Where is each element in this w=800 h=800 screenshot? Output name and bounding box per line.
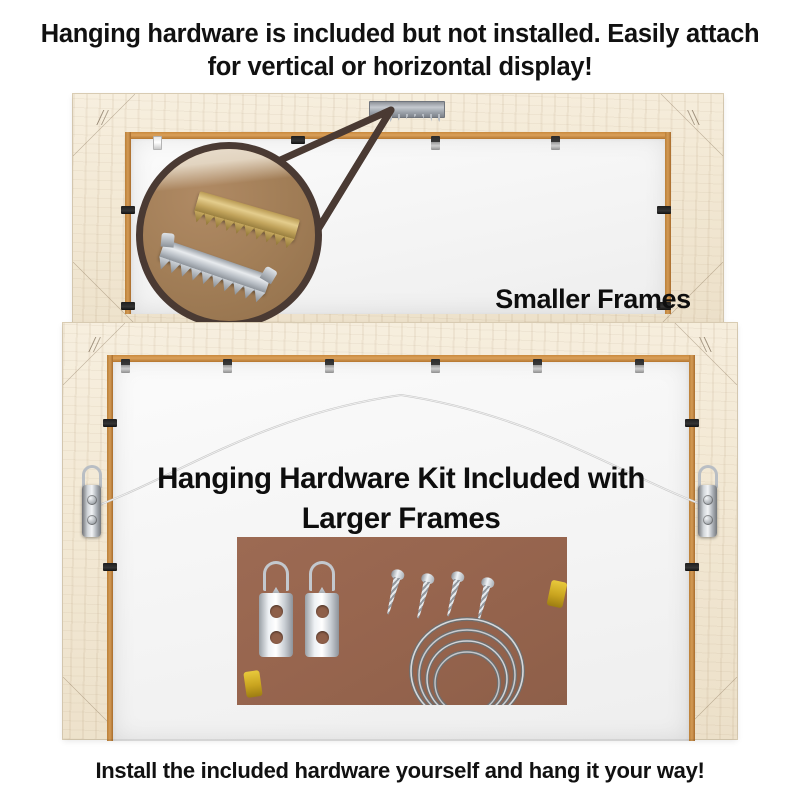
retaining-clip: [685, 563, 699, 571]
kit-screw: [442, 570, 466, 618]
upper-frame-inner-lip: [129, 132, 669, 139]
magnifier-callout-circle: [136, 142, 322, 328]
corner-staple-icon: [83, 337, 103, 352]
sawtooth-teeth-icon: [372, 114, 442, 122]
retaining-clip: [103, 419, 117, 427]
lower-frame-callout-label: Hanging Hardware Kit Included with Large…: [111, 459, 691, 539]
retaining-clip: [635, 359, 644, 373]
retaining-clip: [153, 136, 162, 150]
retaining-clip: [121, 206, 135, 214]
retaining-clip: [223, 359, 232, 373]
lower-frame-inner-lip-left: [107, 355, 113, 741]
infographic-canvas: Hanging hardware is included but not ins…: [0, 0, 800, 800]
kit-coiled-wire: [405, 613, 533, 705]
silver-sawtooth-hanger-icon: [159, 239, 271, 294]
brass-sawtooth-hanger-icon: [194, 191, 300, 241]
d-ring-hanger-right: [695, 465, 721, 539]
header-caption: Hanging hardware is included but not ins…: [0, 18, 800, 84]
retaining-clip: [533, 359, 542, 373]
retaining-clip: [657, 206, 671, 214]
corner-staple-icon: [91, 110, 111, 125]
lower-frame-inner-lip: [109, 355, 693, 362]
retaining-clip: [291, 136, 305, 144]
corner-staple-icon: [697, 337, 717, 352]
kit-screw: [382, 568, 406, 616]
sawtooth-hanger-on-frame: [369, 101, 445, 118]
hanging-hardware-kit-photo: [237, 537, 567, 705]
kit-d-ring-hanger: [305, 561, 339, 657]
retaining-clip: [551, 136, 560, 150]
kit-wire-band: [546, 580, 567, 609]
retaining-clip: [121, 302, 135, 310]
kit-wire-band: [243, 670, 262, 698]
magnifier-board-edge: [136, 142, 322, 195]
d-ring-hanger-left: [79, 465, 105, 539]
retaining-clip: [325, 359, 334, 373]
retaining-clip: [103, 563, 117, 571]
lower-frame-inner-lip-right: [689, 355, 695, 741]
retaining-clip: [431, 359, 440, 373]
upper-frame-back: Smaller Frames Include Sawtooth Hanger: [72, 93, 724, 325]
retaining-clip: [121, 359, 130, 373]
upper-frame-inner-lip-left: [125, 132, 131, 314]
retaining-clip: [685, 419, 699, 427]
kit-d-ring-hanger: [259, 561, 293, 657]
corner-staple-icon: [685, 110, 705, 125]
footer-caption: Install the included hardware yourself a…: [0, 757, 800, 785]
lower-frame-back: Hanging Hardware Kit Included with Large…: [62, 322, 738, 740]
retaining-clip: [431, 136, 440, 150]
